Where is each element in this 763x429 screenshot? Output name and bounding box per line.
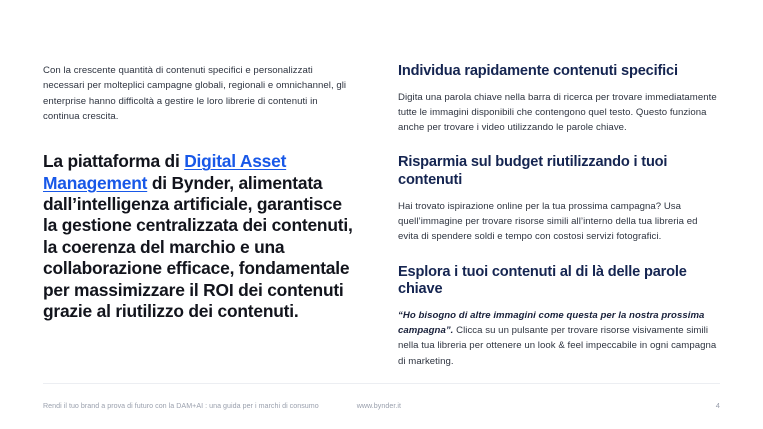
page-footer: Rendi il tuo brand a prova di futuro con… bbox=[43, 398, 720, 414]
lead-heading-before-link: La piattaforma di bbox=[43, 151, 184, 171]
feature-body: Digita una parola chiave nella barra di … bbox=[398, 90, 718, 136]
page-number: 4 bbox=[716, 401, 720, 411]
intro-paragraph: Con la crescente quantità di contenuti s… bbox=[43, 63, 355, 124]
feature-block-save-budget: Risparmia sul budget riutilizzando i tuo… bbox=[398, 154, 718, 244]
feature-block-beyond-keywords: Esplora i tuoi contenuti al di là delle … bbox=[398, 264, 718, 369]
feature-body: “Ho bisogno di altre immagini come quest… bbox=[398, 308, 718, 369]
page-content: Con la crescente quantità di contenuti s… bbox=[0, 0, 763, 378]
feature-block-find-content: Individua rapidamente contenuti specific… bbox=[398, 63, 718, 135]
footer-website-link[interactable]: www.bynder.it bbox=[357, 401, 401, 411]
feature-body: Hai trovato ispirazione online per la tu… bbox=[398, 199, 718, 245]
feature-title: Risparmia sul budget riutilizzando i tuo… bbox=[398, 154, 718, 189]
document-page: Con la crescente quantità di contenuti s… bbox=[0, 0, 763, 429]
footer-divider bbox=[43, 383, 720, 384]
feature-title: Individua rapidamente contenuti specific… bbox=[398, 63, 718, 81]
feature-title: Esplora i tuoi contenuti al di là delle … bbox=[398, 264, 718, 299]
lead-heading-after-link: di Bynder, alimentata dall’intelligenza … bbox=[43, 173, 353, 321]
left-column: Con la crescente quantità di contenuti s… bbox=[43, 63, 355, 322]
footer-document-title: Rendi il tuo brand a prova di futuro con… bbox=[43, 401, 319, 411]
lead-heading: La piattaforma di Digital Asset Manageme… bbox=[43, 151, 355, 322]
right-column: Individua rapidamente contenuti specific… bbox=[398, 63, 718, 369]
